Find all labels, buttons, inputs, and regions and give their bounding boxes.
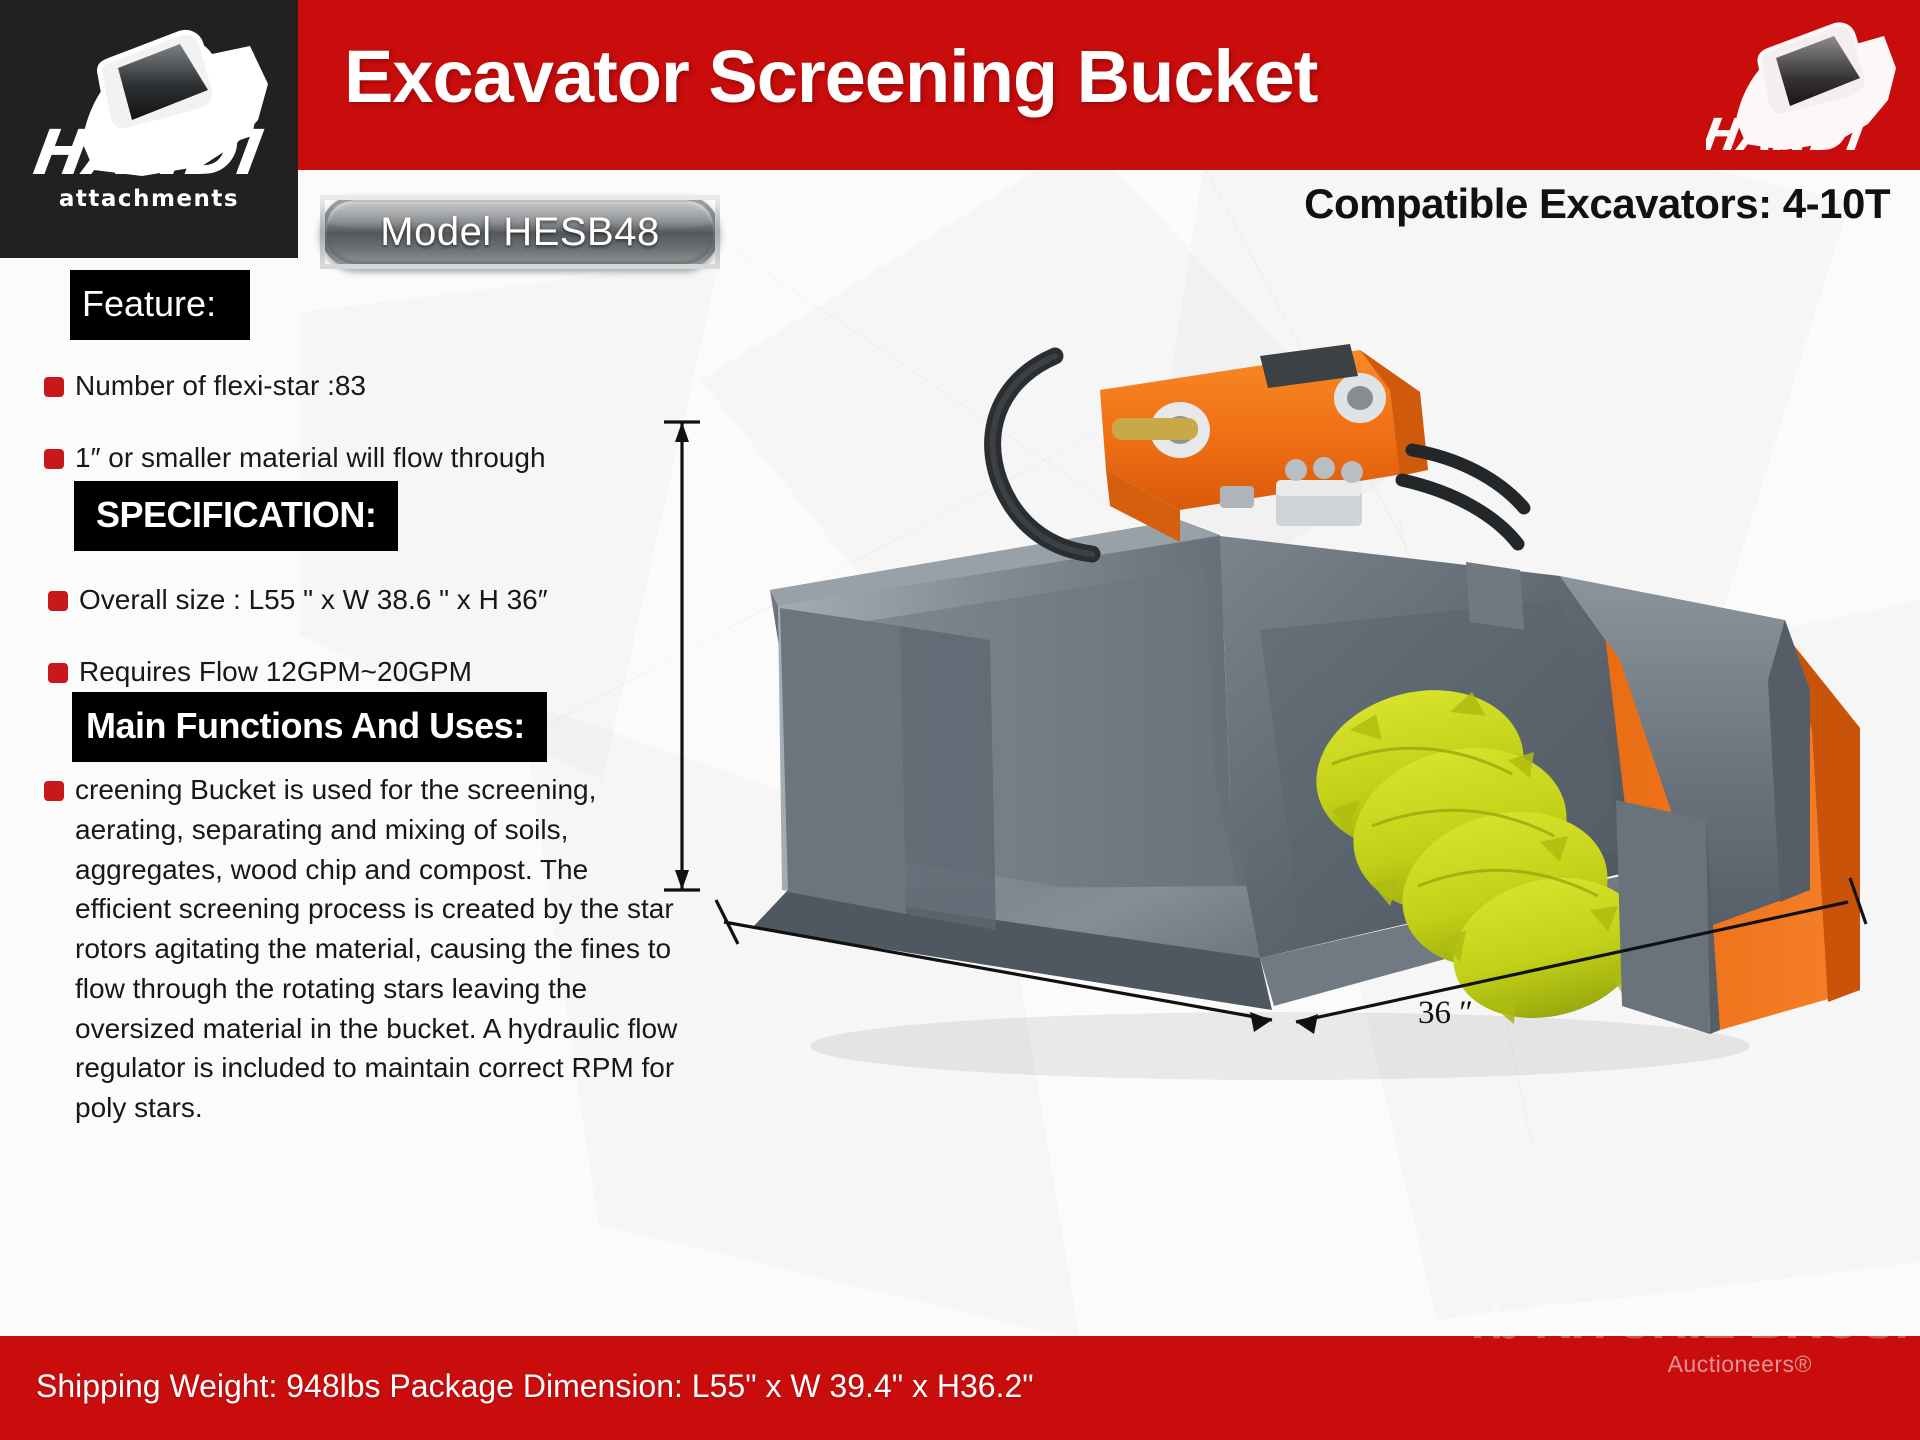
feature-bullet-flexistar: Number of flexi-star :83 xyxy=(44,366,366,406)
screening-bucket-illustration xyxy=(660,330,1920,1330)
footer-bar: Shipping Weight: 948lbs Package Dimensio… xyxy=(0,1336,1920,1440)
model-badge: Model HESB48 xyxy=(320,195,720,269)
spec-bullet-overall-size: Overall size : L55 " x W 38.6 " x H 36″ xyxy=(48,580,548,620)
section-heading-specification: SPECIFICATION: xyxy=(74,481,398,551)
handi-logo-icon: HANDI xyxy=(22,24,278,194)
bullet-square-icon xyxy=(44,377,64,397)
product-photo: 36 ″ 55 ″ 38. 6 " xyxy=(660,330,1920,1330)
footer-shipping-info: Shipping Weight: 948lbs Package Dimensio… xyxy=(36,1368,1034,1405)
main-functions-paragraph: creening Bucket is used for the screenin… xyxy=(44,770,684,1128)
spec-bullet-text: Requires Flow 12GPM~20GPM xyxy=(79,652,472,692)
spec-bullet-text: Overall size : L55 " x W 38.6 " x H 36″ xyxy=(79,580,548,620)
bullet-square-icon xyxy=(44,449,64,469)
feature-bullet-text: 1″ or smaller material will flow through xyxy=(75,438,546,478)
spec-bullet-flow-requirement: Requires Flow 12GPM~20GPM xyxy=(48,652,472,692)
handi-watermark-icon: HANDI xyxy=(1706,20,1896,165)
section-heading-main-functions: Main Functions And Uses: xyxy=(72,692,547,762)
header-banner: Excavator Screening Bucket HANDI xyxy=(298,0,1920,170)
compatible-excavators-label: Compatible Excavators: 4-10T xyxy=(1304,180,1890,228)
dimension-label-height: 36 ″ xyxy=(1418,995,1473,1032)
main-functions-body-text: creening Bucket is used for the screenin… xyxy=(75,770,683,1128)
page-background: HANDI attachments Excavator Screening Bu… xyxy=(0,0,1920,1440)
feature-bullet-material-flow: 1″ or smaller material will flow through xyxy=(44,438,546,478)
brand-logo-subtitle: attachments xyxy=(0,186,298,212)
section-heading-feature: Feature: xyxy=(70,270,250,340)
feature-bullet-text: Number of flexi-star :83 xyxy=(75,366,366,406)
brand-logo-panel: HANDI attachments xyxy=(0,0,298,258)
bullet-square-icon xyxy=(48,663,68,683)
model-badge-label: Model HESB48 xyxy=(380,210,659,255)
bullet-square-icon xyxy=(44,781,64,801)
bullet-square-icon xyxy=(48,591,68,611)
page-title: Excavator Screening Bucket xyxy=(344,34,1317,119)
svg-text:HANDI: HANDI xyxy=(1706,110,1869,161)
